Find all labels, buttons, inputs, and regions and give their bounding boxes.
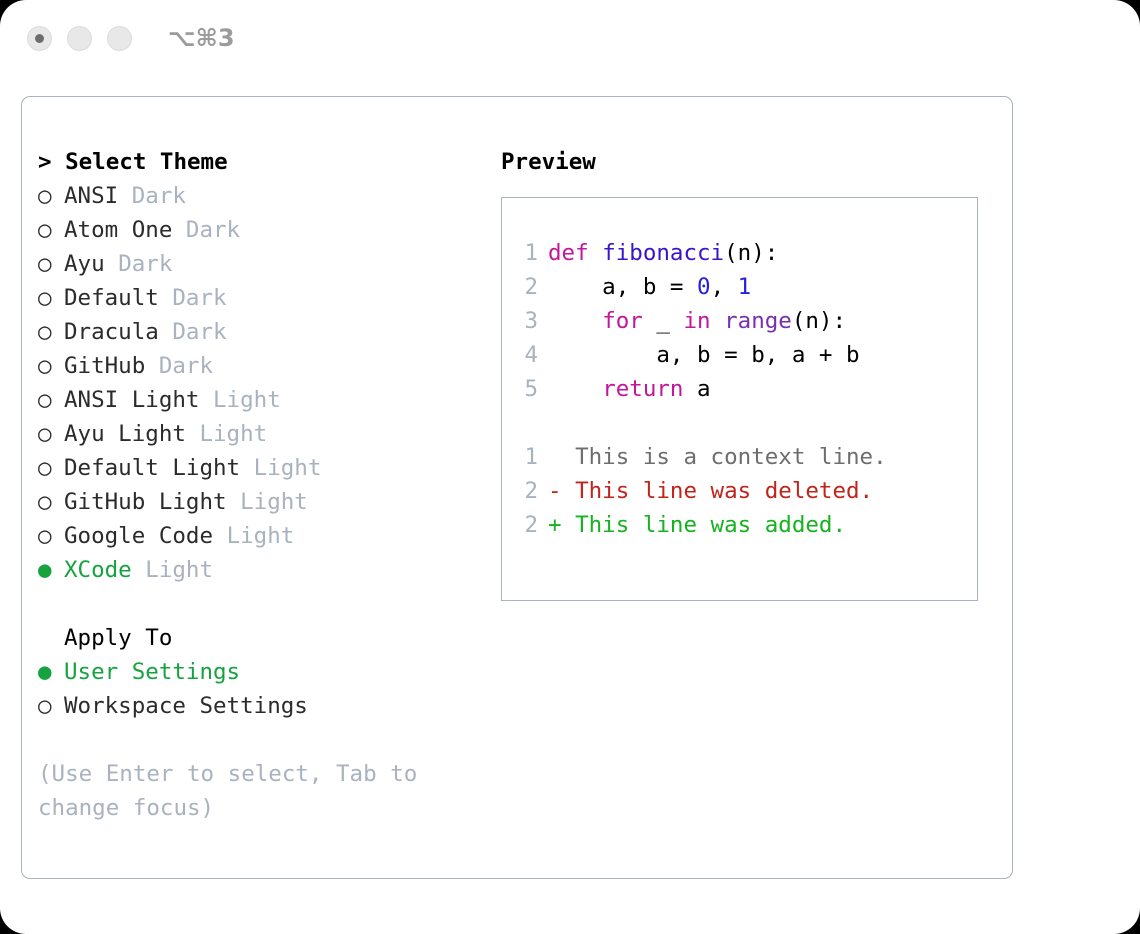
code-token [548, 308, 602, 334]
radio-unselected-icon: ○ [38, 689, 64, 723]
app-window: ⌥⌘3 > Select Theme ○ANSI Dark○Atom One D… [0, 0, 1140, 934]
theme-item-badge: Dark [172, 285, 226, 311]
line-number: 1 [514, 440, 538, 474]
main-panel: > Select Theme ○ANSI Dark○Atom One Dark○… [21, 96, 1013, 879]
theme-item-default-light[interactable]: ○Default Light Light [38, 451, 488, 485]
radio-unselected-icon: ○ [38, 179, 64, 213]
code-token: 0 [697, 274, 711, 300]
theme-item-badge: Light [199, 421, 267, 447]
theme-item-badge: Dark [186, 217, 240, 243]
select-theme-heading: > Select Theme [38, 145, 488, 179]
code-token: return [602, 376, 683, 402]
preview-box: 1def fibonacci(n):2 a, b = 0, 13 for _ i… [501, 197, 978, 601]
radio-unselected-icon: ○ [38, 247, 64, 281]
window-dot-3[interactable] [107, 26, 132, 51]
code-line: 5 return a [514, 372, 969, 406]
code-line: 3 for _ in range(n): [514, 304, 969, 338]
theme-item-github[interactable]: ○GitHub Dark [38, 349, 488, 383]
theme-item-github-light[interactable]: ○GitHub Light Light [38, 485, 488, 519]
radio-unselected-icon: ○ [38, 485, 64, 519]
theme-item-atom-one[interactable]: ○Atom One Dark [38, 213, 488, 247]
theme-item-dracula[interactable]: ○Dracula Dark [38, 315, 488, 349]
code-lines: 1def fibonacci(n):2 a, b = 0, 13 for _ i… [514, 236, 969, 406]
code-line: 1def fibonacci(n): [514, 236, 969, 270]
diff-lines: 1 This is a context line.2- This line wa… [514, 440, 969, 542]
theme-item-label: Default [64, 285, 159, 311]
theme-item-ayu[interactable]: ○Ayu Dark [38, 247, 488, 281]
theme-selection-column: > Select Theme ○ANSI Dark○Atom One Dark○… [38, 145, 488, 825]
theme-item-label: Dracula [64, 319, 159, 345]
code-diff-spacer [514, 406, 969, 440]
theme-item-ansi-light[interactable]: ○ANSI Light Light [38, 383, 488, 417]
radio-selected-icon: ● [38, 553, 64, 587]
code-token: 1 [738, 274, 752, 300]
theme-item-ansi[interactable]: ○ANSI Dark [38, 179, 488, 213]
theme-item-badge: Light [227, 523, 295, 549]
theme-item-label: XCode [64, 557, 132, 583]
line-number: 2 [514, 270, 538, 304]
theme-item-label: Google Code [64, 523, 213, 549]
line-number: 1 [514, 236, 538, 270]
code-token: in [683, 308, 710, 334]
line-number: 5 [514, 372, 538, 406]
radio-unselected-icon: ○ [38, 349, 64, 383]
code-token [711, 308, 725, 334]
section-spacer [38, 587, 488, 621]
keyboard-shortcut-label: ⌥⌘3 [168, 24, 235, 52]
theme-item-badge: Light [213, 387, 281, 413]
diff-text: This is a context line. [548, 444, 887, 470]
theme-item-label: Ayu [64, 251, 105, 277]
theme-item-label: GitHub [64, 353, 145, 379]
theme-item-badge: Dark [172, 319, 226, 345]
code-token: fibonacci [602, 240, 724, 266]
theme-item-google-code[interactable]: ○Google Code Light [38, 519, 488, 553]
theme-item-label: Default Light [64, 455, 240, 481]
code-token: a, b = b, a + b [548, 342, 860, 368]
apply-to-item-label: Workspace Settings [64, 693, 308, 719]
line-number: 3 [514, 304, 538, 338]
diff-text: + This line was added. [548, 512, 846, 538]
theme-item-label: Ayu Light [64, 421, 186, 447]
code-token: _ [643, 308, 684, 334]
code-token: range [724, 308, 792, 334]
code-token: def [548, 240, 602, 266]
theme-item-badge: Light [240, 489, 308, 515]
theme-list: ○ANSI Dark○Atom One Dark○Ayu Dark○Defaul… [38, 179, 488, 587]
radio-unselected-icon: ○ [38, 383, 64, 417]
apply-to-heading: Apply To [38, 621, 488, 655]
code-line: 4 a, b = b, a + b [514, 338, 969, 372]
keyboard-hint: (Use Enter to select, Tab to change focu… [38, 757, 448, 825]
apply-to-list: ●User Settings○Workspace Settings [38, 655, 488, 723]
code-token: (n): [792, 308, 846, 334]
diff-line-add: 2+ This line was added. [514, 508, 969, 542]
theme-item-default[interactable]: ○Default Dark [38, 281, 488, 315]
radio-unselected-icon: ○ [38, 519, 64, 553]
window-dot-active[interactable] [27, 26, 52, 51]
apply-to-item-user-settings[interactable]: ●User Settings [38, 655, 488, 689]
title-bar: ⌥⌘3 [0, 0, 1140, 78]
preview-heading: Preview [501, 145, 991, 179]
code-token: a [683, 376, 710, 402]
diff-text: - This line was deleted. [548, 478, 873, 504]
code-line: 2 a, b = 0, 1 [514, 270, 969, 304]
line-number: 2 [514, 474, 538, 508]
theme-item-label: ANSI [64, 183, 118, 209]
theme-item-badge: Dark [132, 183, 186, 209]
window-dot-2[interactable] [67, 26, 92, 51]
radio-unselected-icon: ○ [38, 213, 64, 247]
theme-item-badge: Dark [159, 353, 213, 379]
radio-unselected-icon: ○ [38, 417, 64, 451]
theme-item-label: ANSI Light [64, 387, 199, 413]
code-token: for [602, 308, 643, 334]
diff-line-del: 2- This line was deleted. [514, 474, 969, 508]
theme-item-label: GitHub Light [64, 489, 227, 515]
code-token [548, 376, 602, 402]
theme-item-label: Atom One [64, 217, 172, 243]
radio-unselected-icon: ○ [38, 451, 64, 485]
code-token: a, b = [548, 274, 697, 300]
radio-selected-icon: ● [38, 655, 64, 689]
line-number: 2 [514, 508, 538, 542]
theme-item-xcode[interactable]: ●XCode Light [38, 553, 488, 587]
code-sample: 1def fibonacci(n):2 a, b = 0, 13 for _ i… [514, 236, 969, 542]
code-token: , [711, 274, 738, 300]
apply-to-item-label: User Settings [64, 659, 240, 685]
window-dot-active-inner [35, 34, 44, 43]
theme-item-badge: Light [145, 557, 213, 583]
radio-unselected-icon: ○ [38, 281, 64, 315]
theme-item-badge: Light [254, 455, 322, 481]
diff-line-ctx: 1 This is a context line. [514, 440, 969, 474]
theme-item-badge: Dark [118, 251, 172, 277]
theme-item-ayu-light[interactable]: ○Ayu Light Light [38, 417, 488, 451]
radio-unselected-icon: ○ [38, 315, 64, 349]
code-token: (n): [724, 240, 778, 266]
preview-column: Preview 1def fibonacci(n):2 a, b = 0, 13… [501, 145, 991, 601]
apply-to-item-workspace-settings[interactable]: ○Workspace Settings [38, 689, 488, 723]
line-number: 4 [514, 338, 538, 372]
